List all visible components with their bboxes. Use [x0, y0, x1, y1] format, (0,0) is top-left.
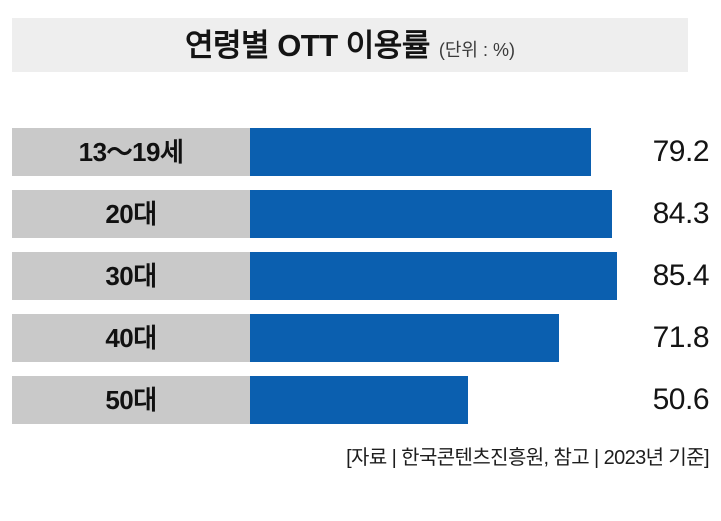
bar-fill — [250, 314, 559, 362]
category-label: 13〜19세 — [79, 139, 184, 165]
chart-title-group: 연령별 OTT 이용률 (단위 : %) — [185, 30, 515, 61]
bar-value-label: 50.6 — [653, 376, 709, 424]
bar-track: 50.6 — [250, 376, 709, 424]
bar-track: 79.2 — [250, 128, 709, 176]
category-label-band: 13〜19세 — [12, 128, 250, 176]
chart-unit-label: (단위 : %) — [439, 41, 515, 59]
category-label: 50대 — [105, 387, 156, 413]
chart-row: 30대 85.4 — [0, 252, 721, 300]
bar-value-label: 79.2 — [653, 128, 709, 176]
bar-fill — [250, 376, 468, 424]
category-label-band: 20대 — [12, 190, 250, 238]
chart-page: 연령별 OTT 이용률 (단위 : %) 13〜19세 79.2 20대 84.… — [0, 0, 721, 521]
category-label-band: 40대 — [12, 314, 250, 362]
chart-row: 13〜19세 79.2 — [0, 128, 721, 176]
source-note: [자료 | 한국콘텐츠진흥원, 참고 | 2023년 기준] — [12, 446, 709, 470]
bar-track: 85.4 — [250, 252, 709, 300]
chart-row: 20대 84.3 — [0, 190, 721, 238]
category-label-band: 30대 — [12, 252, 250, 300]
bar-value-label: 84.3 — [653, 190, 709, 238]
category-label: 30대 — [105, 263, 156, 289]
bar-track: 71.8 — [250, 314, 709, 362]
category-label-band: 50대 — [12, 376, 250, 424]
bar-value-label: 71.8 — [653, 314, 709, 362]
chart-title-band: 연령별 OTT 이용률 (단위 : %) — [12, 18, 688, 72]
chart-row: 50대 50.6 — [0, 376, 721, 424]
category-label: 20대 — [105, 201, 156, 227]
bar-fill — [250, 128, 591, 176]
bar-chart: 13〜19세 79.2 20대 84.3 30대 85.4 — [0, 128, 721, 424]
bar-fill — [250, 252, 617, 300]
bar-fill — [250, 190, 612, 238]
page-title: 연령별 OTT 이용률 — [185, 30, 430, 61]
bar-track: 84.3 — [250, 190, 709, 238]
source-text: [자료 | 한국콘텐츠진흥원, 참고 | 2023년 기준] — [346, 447, 709, 469]
bar-value-label: 85.4 — [653, 252, 709, 300]
category-label: 40대 — [105, 325, 156, 351]
chart-row: 40대 71.8 — [0, 314, 721, 362]
